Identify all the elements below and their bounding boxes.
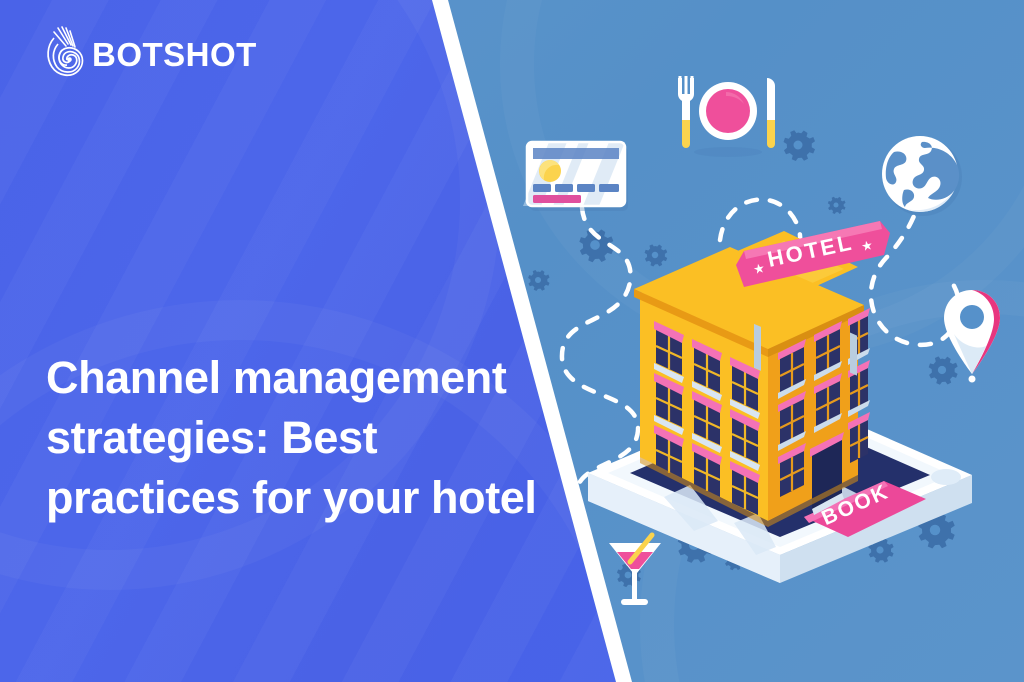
globe-icon [878,132,964,218]
page-title: Channel management strategies: Best prac… [46,348,546,528]
hotel-on-tablet-illustration: BOOK [568,225,988,555]
dining-icon [668,70,788,160]
brand-logo-text: BOTSHOT [92,38,257,71]
botshot-spiral-logomark [44,26,88,82]
brand-logo[interactable]: BOTSHOT [44,26,257,82]
hero-banner: BOOK [0,0,1024,682]
credit-card-icon [527,142,631,214]
